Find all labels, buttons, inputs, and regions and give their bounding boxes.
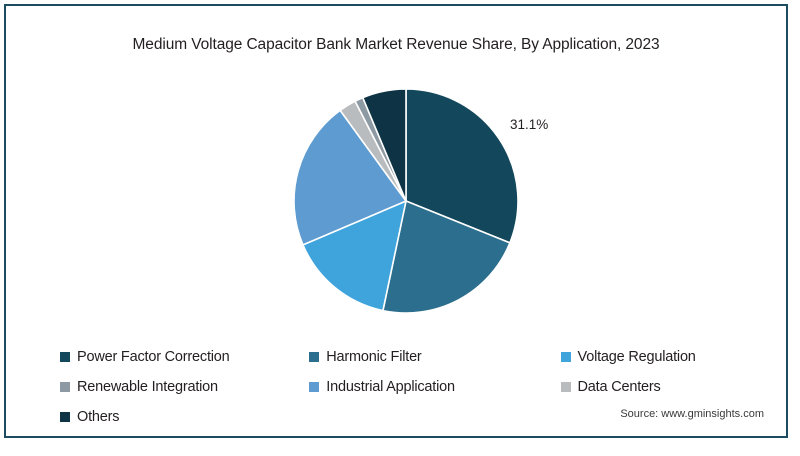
legend-swatch-icon <box>309 382 319 392</box>
legend-row: Renewable IntegrationIndustrial Applicat… <box>60 372 740 402</box>
legend-item[interactable]: Power Factor Correction <box>60 349 309 365</box>
legend-item-label: Others <box>77 409 119 425</box>
legend-swatch-icon <box>561 382 571 392</box>
legend-item[interactable]: Industrial Application <box>309 379 560 395</box>
slice-value-label-power-factor-correction: 31.1% <box>510 117 548 132</box>
legend-item[interactable]: Renewable Integration <box>60 379 309 395</box>
legend-swatch-icon <box>309 352 319 362</box>
legend-item-label: Renewable Integration <box>77 379 218 395</box>
legend-item[interactable]: Voltage Regulation <box>561 349 740 365</box>
source-attribution: Source: www.gminsights.com <box>620 408 764 420</box>
legend-item[interactable]: Harmonic Filter <box>309 349 560 365</box>
legend-item[interactable]: Others <box>60 409 310 425</box>
legend-swatch-icon <box>561 352 571 362</box>
pie-slice-group <box>294 89 518 313</box>
legend-item-label: Harmonic Filter <box>326 349 421 365</box>
legend-row: Power Factor CorrectionHarmonic FilterVo… <box>60 342 740 372</box>
page-title: Medium Voltage Capacitor Bank Market Rev… <box>6 36 786 54</box>
legend-item-label: Industrial Application <box>326 379 455 395</box>
legend-item-label: Data Centers <box>578 379 661 395</box>
legend-swatch-icon <box>60 412 70 422</box>
legend-swatch-icon <box>60 382 70 392</box>
legend-item-label: Power Factor Correction <box>77 349 230 365</box>
chart-frame: Medium Voltage Capacitor Bank Market Rev… <box>4 4 788 438</box>
legend-swatch-icon <box>60 352 70 362</box>
legend-item-label: Voltage Regulation <box>578 349 696 365</box>
legend-item[interactable]: Data Centers <box>561 379 740 395</box>
